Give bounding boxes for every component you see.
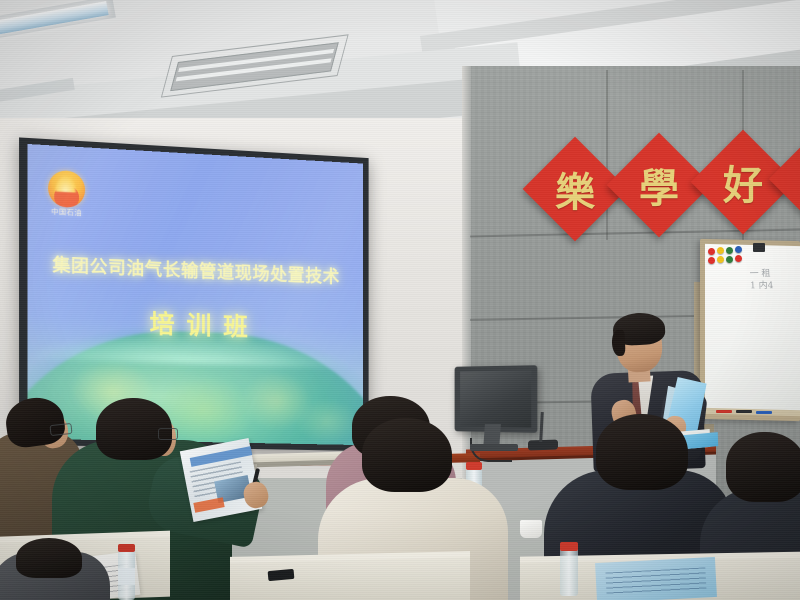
presenter-hair-side xyxy=(611,330,625,357)
whiteboard-magnet-icon[interactable] xyxy=(708,248,715,255)
classroom-photo-scene: 樂 學 好 一 租 1 内4 中国石油 集团公司油气长输管道现场处置技术 xyxy=(0,0,800,600)
audience-hair xyxy=(16,538,82,578)
whiteboard-clip-icon[interactable] xyxy=(753,243,765,252)
wall-banner-char-2: 學 xyxy=(622,148,696,222)
water-bottle-cap xyxy=(560,542,578,551)
petrochina-logo: 中国石油 xyxy=(46,170,87,221)
whiteboard-magnet-icon[interactable] xyxy=(717,256,724,263)
petrochina-logo-text: 中国石油 xyxy=(46,206,87,218)
water-bottle-cap xyxy=(466,462,482,470)
slide-title: 集团公司油气长输管道现场处置技术 xyxy=(27,250,363,289)
whiteboard-magnet-icon[interactable] xyxy=(726,256,733,263)
audience-hair xyxy=(596,414,688,490)
wall-banner-char-1: 樂 xyxy=(538,152,612,226)
projection-screen: 中国石油 集团公司油气长输管道现场处置技术 培训班 xyxy=(27,144,363,445)
paper-cup xyxy=(520,520,542,538)
petrochina-logo-highlight xyxy=(54,175,77,192)
whiteboard-marker-icon[interactable] xyxy=(736,410,752,413)
water-bottle-cap xyxy=(118,544,135,552)
glasses-icon xyxy=(49,423,72,436)
microphone-base xyxy=(528,439,558,450)
whiteboard-magnet-icon[interactable] xyxy=(735,255,742,262)
whiteboard-marker-icon[interactable] xyxy=(716,410,732,413)
audience-hair xyxy=(362,418,452,492)
whiteboard-magnet-icon[interactable] xyxy=(708,257,715,264)
audience-hair xyxy=(726,432,800,502)
whiteboard-magnet-icon[interactable] xyxy=(726,247,733,254)
wall-banner-char-3: 好 xyxy=(706,145,780,219)
whiteboard-note-line-2: 1 内4 xyxy=(750,280,800,293)
wall-banner-char-4 xyxy=(784,142,800,216)
water-bottle-label xyxy=(118,568,135,585)
glasses-icon xyxy=(158,428,178,440)
front-table-center xyxy=(230,557,470,600)
whiteboard-magnet-icon[interactable] xyxy=(717,247,724,254)
whiteboard-notes: 一 租 1 内4 xyxy=(749,268,800,303)
monitor-rear-panel xyxy=(460,370,531,427)
whiteboard-note-line-1: 一 租 xyxy=(749,268,799,281)
whiteboard-marker-icon[interactable] xyxy=(756,411,772,414)
water-bottle xyxy=(560,546,578,596)
whiteboard-magnet-icon[interactable] xyxy=(735,246,742,253)
monitor-base xyxy=(470,444,518,451)
